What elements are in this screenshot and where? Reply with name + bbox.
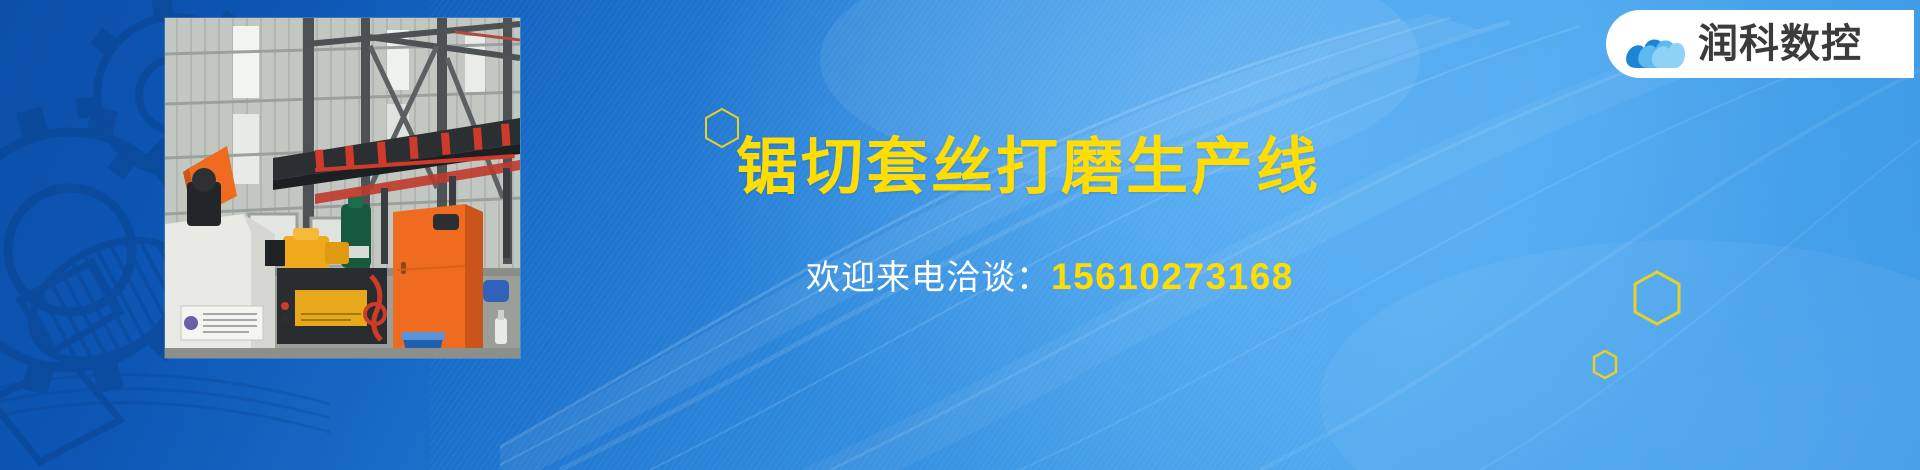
company-logo[interactable]: 润科数控 [1606, 10, 1914, 78]
contact-line: 欢迎来电洽谈：15610273168 [806, 258, 1294, 295]
contact-phone-number[interactable]: 15610273168 [1051, 256, 1294, 297]
logo-wordmark: 润科数控 [1698, 24, 1862, 64]
diagonal-hatch-texture [430, 0, 1330, 470]
hexagon-small-right-lower [1592, 350, 1618, 380]
promo-banner: 锯切套丝打磨生产线 欢迎来电洽谈：15610273168 润科数控 [0, 0, 1920, 470]
contact-lead-text: 欢迎来电洽谈： [806, 258, 1051, 298]
product-photo [165, 18, 520, 358]
hexagon-large-right [1632, 270, 1682, 326]
banner-headline: 锯切套丝打磨生产线 [736, 136, 1321, 198]
factory-interior-illustration [165, 18, 520, 358]
hexagon-small-upper-left [704, 108, 740, 148]
three-overlapping-droplets-icon [1622, 18, 1686, 70]
